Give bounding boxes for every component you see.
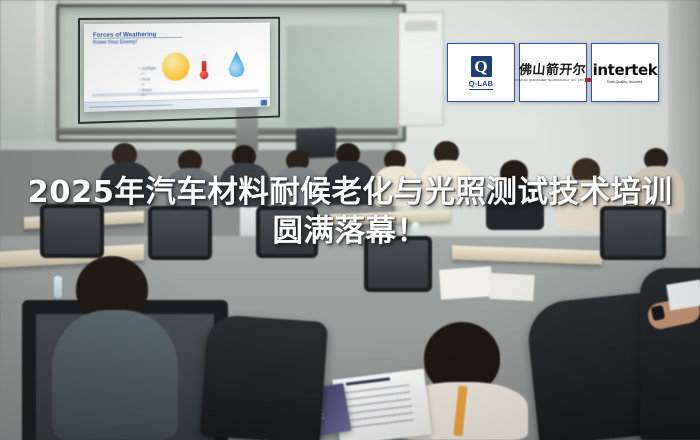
office-chair	[200, 314, 328, 440]
attendee-body	[486, 182, 544, 230]
foshan-chinese-name: 佛山箭开尔	[519, 63, 587, 77]
logo-card-foshan: 佛山箭开尔 FOSHAN QIANKAIER TECHNOLOGY CO.,LT…	[519, 43, 587, 102]
attendee-body	[100, 162, 152, 206]
attendee-body	[166, 168, 216, 210]
office-chair	[256, 206, 318, 258]
attendee-body	[374, 166, 418, 206]
desk	[452, 245, 602, 264]
logo-card-q-lab: Q Q-LAB	[447, 43, 515, 102]
attendee-body	[220, 163, 270, 207]
foshan-calligraphy-logo: 佛山箭开尔 FOSHAN QIANKAIER TECHNOLOGY CO.,LT…	[514, 63, 591, 82]
foshan-subtitle-row: FOSHAN QIANKAIER TECHNOLOGY CO.,LTD	[514, 78, 591, 82]
office-chair	[148, 206, 212, 260]
office-chair	[364, 236, 432, 292]
paper-sheet	[666, 280, 700, 311]
handout-text-lines	[344, 384, 414, 432]
office-chair	[600, 206, 666, 260]
attendee-body	[274, 167, 322, 209]
water-bottle	[54, 276, 62, 298]
sponsor-logo-strip: Q Q-LAB 佛山箭开尔 FOSHAN QIANKAIER TECHNOLOG…	[447, 43, 659, 102]
training-event-poster: Forces of Weathering Know Your Enemy! Su…	[0, 0, 700, 440]
attendee-body	[422, 160, 472, 204]
intertek-wordmark: intertek	[593, 61, 658, 79]
q-lab-wordmark: Q-LAB	[469, 79, 493, 90]
q-lab-mark-icon: Q	[471, 56, 492, 77]
desk	[330, 210, 450, 225]
foshan-subtitle: FOSHAN QIANKAIER TECHNOLOGY CO.,LTD	[514, 78, 583, 82]
logo-card-intertek: intertek Total Quality. Assured.	[591, 43, 659, 102]
paper-sheet	[439, 266, 493, 300]
attendee-body	[52, 310, 178, 440]
intertek-logo: intertek Total Quality. Assured.	[593, 61, 658, 84]
paper-sheet	[489, 273, 534, 301]
intertek-tagline: Total Quality. Assured.	[607, 80, 644, 84]
office-chair	[40, 204, 104, 258]
attendee-body	[324, 161, 374, 205]
q-lab-logo: Q Q-LAB	[469, 56, 493, 90]
wristwatch	[651, 305, 666, 321]
